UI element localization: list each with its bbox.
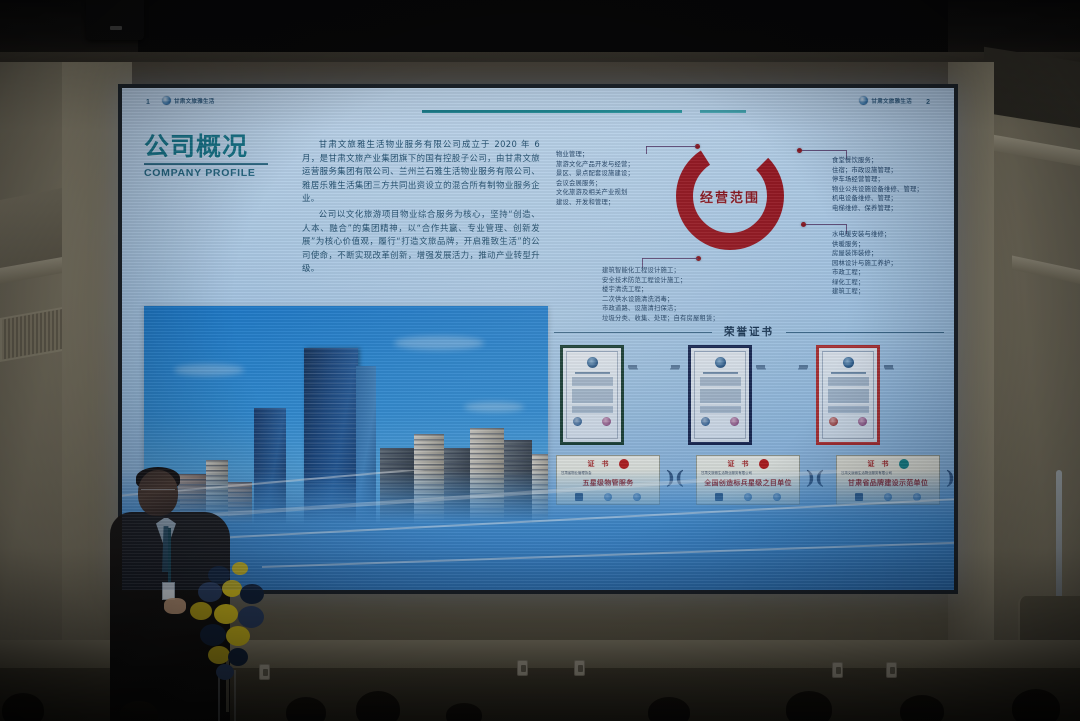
cloud: [464, 402, 524, 412]
heading-rule-left: [554, 332, 712, 333]
certificate-emblem-icon: [587, 357, 598, 368]
certificate-red: [816, 345, 880, 445]
plaque-header-text: 证 书: [588, 459, 609, 469]
flower-dark: [240, 584, 264, 604]
flower-yellow: [232, 562, 248, 575]
scope-text-top-right: 食堂餐饮服务； 住宿；市政设施管理； 停车场经营管理； 物业公共设施设备维修、管…: [832, 156, 950, 213]
title-underline: [144, 163, 268, 165]
certificate-emblem-icon: [715, 357, 726, 368]
leader-line: [806, 224, 846, 225]
company-logo-left: 甘肃文旅雅生活: [162, 96, 215, 105]
plaque-header-text: 证 书: [868, 459, 889, 469]
certificate-text-block: [828, 377, 869, 386]
audience-head: [2, 693, 44, 721]
scope-text-top-left: 物业管理； 旅游文化产品开发与经营； 景区、景点配套设施建设； 会议会展服务； …: [556, 150, 680, 207]
certificate-line: [575, 372, 610, 374]
slide-left-column: 公司概况 COMPANY PROFILE 甘肃文旅雅生活物业服务有限公司成立于 …: [144, 134, 544, 179]
logo-wordmark: 甘肃文旅雅生活: [174, 97, 215, 105]
certificate-seal: [829, 417, 838, 426]
scope-center-label: 经营范围: [676, 142, 784, 250]
logo-wordmark: 甘肃文旅雅生活: [871, 97, 912, 105]
projection-screen: 1 甘肃文旅雅生活 甘肃文旅雅生活 2 公司概况 COMPANY PROFILE: [118, 84, 958, 594]
business-scope-diagram: 经营范围 物业管理； 旅游文化产品开发与经营； 景区、景点配套设施建设； 会议会…: [554, 128, 944, 328]
page-number-right: 2: [926, 99, 930, 106]
slide-header: 1 甘肃文旅雅生活 甘肃文旅雅生活 2: [122, 88, 954, 122]
leader-line: [802, 150, 846, 151]
audience-silhouettes: [0, 661, 1080, 721]
ceiling-projector: [86, 0, 144, 40]
logo-mark-icon: [859, 96, 868, 105]
certificate-body: [694, 351, 746, 439]
glasses-icon: [141, 489, 175, 496]
audience-head: [120, 701, 158, 721]
company-description: 甘肃文旅雅生活物业服务有限公司成立于 2020 年 6 月，是甘肃文旅产业集团旗…: [302, 138, 540, 278]
wave-line: [122, 470, 954, 526]
certificate-text-block: [700, 406, 741, 413]
audience-head: [1012, 689, 1060, 721]
ceiling-dark-recess: [138, 0, 948, 56]
laurel-wreath-icon: ))))))))): [670, 365, 683, 427]
header-rule-accent: [700, 110, 746, 113]
flower-yellow: [214, 604, 238, 624]
certificate-text-block: [828, 389, 869, 403]
audience-head: [786, 691, 832, 721]
certificate-text-block: [572, 406, 613, 413]
certificate-line: [831, 372, 866, 374]
logo-mark-icon: [162, 96, 171, 105]
honors-title: 荣誉证书: [719, 324, 779, 339]
audience-head: [446, 703, 482, 721]
paragraph-2: 公司以文化旅游项目物业综合服务为核心，坚持“创造、人本、融合”的集团精神，以“合…: [302, 208, 540, 276]
scope-text-bottom-left: 建筑智能化工程设计施工； 安全技术防范工程设计施工； 楼宇清洗工程； 二次供水设…: [602, 266, 768, 323]
flower-yellow: [226, 626, 250, 646]
scope-text-bottom-right: 水电暖安装与维修； 供暖服务； 房屋装饰装修； 园林设计与施工养护； 市政工程；…: [832, 230, 950, 297]
certificate-row: ((((((((( ))))))))) ((((((: [554, 345, 944, 449]
cloud: [394, 336, 484, 350]
presentation-room-photo: 1 甘肃文旅雅生活 甘肃文旅雅生活 2 公司概况 COMPANY PROFILE: [0, 0, 1080, 721]
certificate-text-block: [572, 377, 613, 386]
flower-blue: [198, 582, 222, 602]
flower-dark: [200, 624, 226, 646]
audience-head: [900, 695, 944, 721]
wave-line: [122, 495, 954, 546]
certificate-text-block: [828, 406, 869, 413]
audience-head: [286, 697, 326, 721]
header-rule: [422, 110, 682, 113]
plaque-header-text: 证 书: [728, 459, 749, 469]
laurel-wreath-icon: (((((((((: [884, 365, 897, 427]
scope-ring: 经营范围: [676, 142, 784, 250]
certificate-seal: [858, 417, 867, 426]
flower-yellow: [222, 580, 242, 597]
flower-blue: [238, 606, 264, 628]
plaque-seal-dot: [759, 459, 769, 469]
audience-head: [356, 691, 400, 721]
heading-rule-right: [786, 332, 944, 333]
wave-line: [262, 539, 954, 568]
plaque-seal-dot: [899, 459, 909, 469]
leader-line: [646, 146, 696, 147]
laurel-wreath-icon: (((((((((: [628, 365, 641, 427]
certificate-body: [822, 351, 874, 439]
page-number-left: 1: [146, 99, 150, 106]
flower-yellow: [190, 602, 212, 620]
audience-head: [648, 697, 690, 721]
slide-canvas: 1 甘肃文旅雅生活 甘肃文旅雅生活 2 公司概况 COMPANY PROFILE: [122, 88, 954, 590]
certificate-seal: [602, 417, 611, 426]
company-logo-right: 甘肃文旅雅生活: [859, 96, 912, 105]
certificate-text-block: [700, 389, 741, 403]
certificate-seal: [573, 417, 582, 426]
leader-line: [642, 258, 698, 259]
certificate-text-block: [572, 389, 613, 403]
wave-line: [122, 470, 954, 500]
honors-heading: 荣誉证书: [554, 324, 944, 340]
certificate-navy: [688, 345, 752, 445]
plaque-header: 证 书: [841, 459, 935, 469]
certificate-body: [566, 351, 618, 439]
certificate-seal: [701, 417, 710, 426]
laurel-wreath-icon: ))))))))): [798, 365, 811, 427]
certificate-green: [560, 345, 624, 445]
certificate-text-block: [700, 377, 741, 386]
certificate-line: [703, 372, 738, 374]
plaque-seal-dot: [619, 459, 629, 469]
plaque-header: 证 书: [701, 459, 795, 469]
certificate-seal: [730, 417, 739, 426]
presenter-lanyard: [168, 528, 171, 584]
certificate-emblem-icon: [843, 357, 854, 368]
plaque-header: 证 书: [561, 459, 655, 469]
paragraph-1: 甘肃文旅雅生活物业服务有限公司成立于 2020 年 6 月，是甘肃文旅产业集团旗…: [302, 138, 540, 206]
laurel-wreath-icon: (((((((((: [756, 365, 769, 427]
cloud: [174, 364, 244, 376]
